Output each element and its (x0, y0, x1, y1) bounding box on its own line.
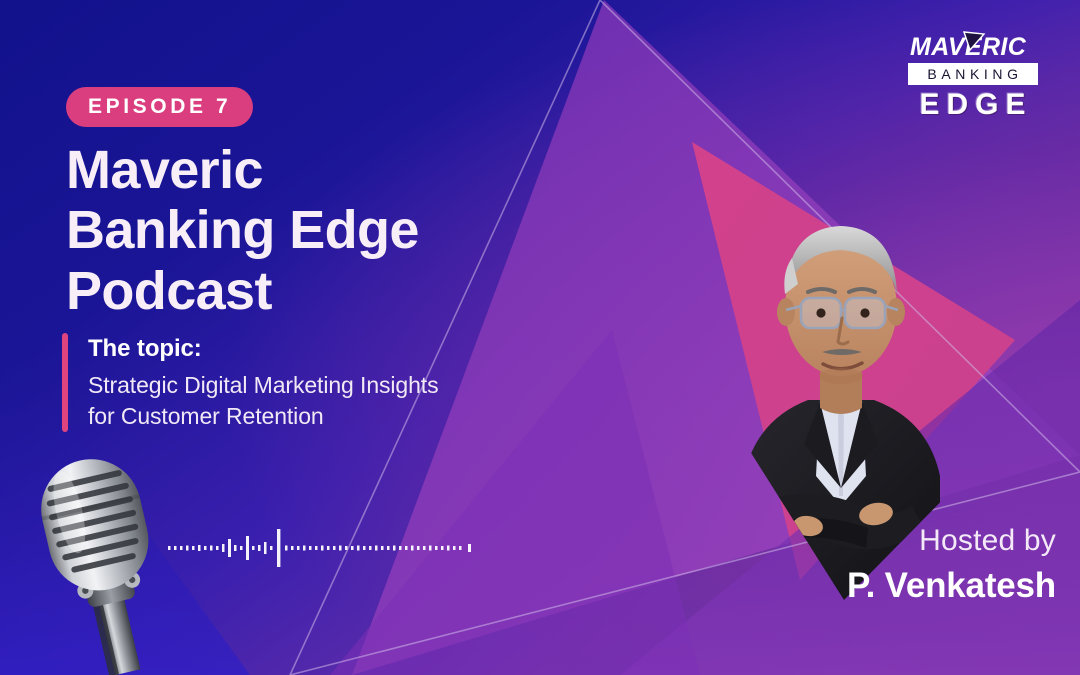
topic-block: The topic: Strategic Digital Marketing I… (62, 333, 439, 432)
logo-banking-text: BANKING (908, 63, 1038, 85)
title-line-3: Podcast (66, 261, 586, 321)
episode-badge: EPISODE 7 (66, 87, 253, 127)
maveric-banking-edge-logo: MAVERIC BANKING EDGE (908, 30, 1038, 121)
logo-edge-text: EDGE (908, 88, 1038, 121)
host-credit: Hosted by P. Venkatesh (847, 524, 1056, 607)
title-line-1: Maveric (66, 140, 586, 200)
podcast-promo-card: EPISODE 7 Maveric Banking Edge Podcast T… (0, 0, 1080, 675)
host-prefix: Hosted by (847, 524, 1056, 559)
topic-accent-bar (62, 333, 68, 432)
page-title: Maveric Banking Edge Podcast (66, 140, 586, 321)
retro-microphone-icon (18, 446, 186, 675)
audio-waveform (168, 524, 488, 572)
topic-text: Strategic Digital Marketing Insights for… (88, 370, 439, 431)
host-name: P. Venkatesh (847, 565, 1056, 607)
maveric-wordmark: MAVERIC (908, 30, 1038, 62)
title-line-2: Banking Edge (66, 200, 586, 260)
topic-heading: The topic: (88, 333, 439, 365)
